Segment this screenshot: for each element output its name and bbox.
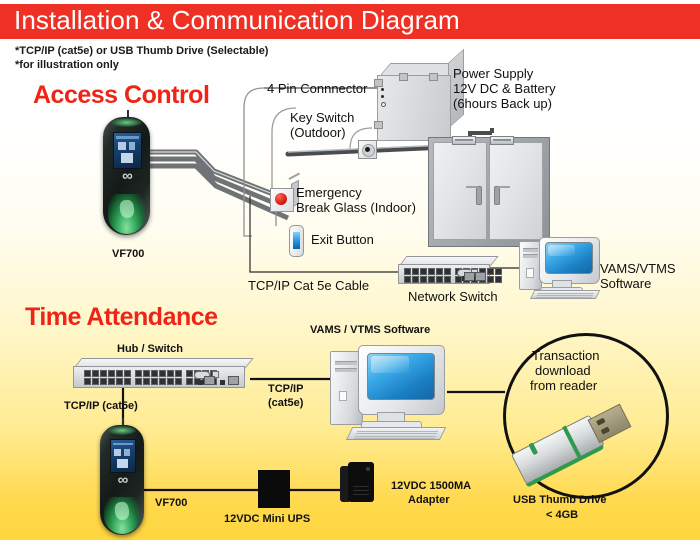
section-title-time-attendance: Time Attendance — [25, 303, 218, 332]
adapter-led — [366, 467, 370, 471]
door-handle-left — [476, 186, 482, 205]
label-vf700-access: VF700 — [112, 248, 144, 261]
reader-body-bottom: ∞ — [100, 425, 144, 535]
pc-screen-gloss — [548, 245, 575, 256]
pc-tower-slot — [335, 361, 357, 365]
label-tcpip-cat5e-cable: TCP/IP Cat 5e Cable — [248, 278, 369, 293]
label-network-switch: Network Switch — [408, 289, 498, 304]
label-mini-ups: 12VDC Mini UPS — [224, 513, 310, 526]
reader-logo: ∞ — [122, 168, 131, 185]
label-usb-line2: < 4GB — [546, 509, 578, 522]
screen-block-b — [129, 142, 136, 150]
reader-top-glow — [111, 118, 141, 127]
glass-doors — [428, 137, 548, 245]
pc-power-led-bottom — [339, 391, 347, 401]
network-switch-port-array — [404, 268, 502, 283]
pc-screen-gloss-bottom — [371, 356, 409, 373]
psu-tab-tl — [374, 79, 383, 87]
maglock-right-line — [493, 139, 511, 141]
usb-connector-hole — [601, 427, 610, 435]
header-bar: Installation & Communication Diagram — [0, 4, 700, 39]
key-switch-keyhole — [365, 147, 370, 152]
network-switch-device — [398, 256, 488, 284]
label-emergency-line1: Emergency — [296, 185, 362, 200]
vams-vtms-workstation-top — [519, 237, 601, 299]
label-key-switch-line2: (Outdoor) — [290, 125, 346, 140]
door-bar-left — [466, 186, 478, 188]
adapter-vent-line — [353, 494, 369, 495]
break-glass-red-button-icon — [275, 193, 287, 205]
psu-terminal-3 — [381, 102, 386, 107]
hub-switch-front — [73, 366, 245, 388]
pc-screen-top — [545, 242, 593, 273]
screen-block-a — [114, 449, 121, 456]
label-callout-line3: from reader — [530, 378, 597, 393]
label-usb-line1: USB Thumb Drive — [513, 494, 607, 507]
mini-ups-device — [258, 470, 290, 508]
page-title: Installation & Communication Diagram — [14, 5, 460, 36]
maglock-left-line — [455, 139, 473, 141]
exit-button-blue-face — [293, 232, 300, 249]
psu-front-face — [377, 75, 451, 141]
hub-switch-aux-port — [198, 380, 203, 385]
key-switch-device — [358, 140, 377, 159]
exit-button-device — [289, 225, 304, 257]
psu-tab-top-b — [429, 73, 438, 81]
pc-keyboard-bottom — [346, 427, 447, 440]
label-software-top-line1: VAMS/VTMS — [600, 261, 676, 276]
pc-keyboard-top — [530, 290, 601, 299]
network-switch-front — [398, 264, 490, 284]
label-link-reader-hub: TCP/IP (cat5e) — [64, 400, 138, 413]
label-callout-line2: download — [535, 363, 591, 378]
label-key-switch-line1: Key Switch — [290, 110, 354, 125]
reader-top-glow-bottom — [108, 426, 136, 435]
psu-terminal-1 — [381, 88, 384, 91]
vf700-reader-time-attendance: ∞ — [100, 425, 144, 535]
screen-titlebar — [113, 443, 134, 446]
label-exit-button: Exit Button — [311, 232, 374, 247]
screen-block-c — [117, 459, 129, 468]
pc-tower-slot — [523, 254, 538, 258]
label-link-hub-pc-line2: (cat5e) — [268, 397, 303, 410]
label-software-top-line2: Software — [600, 276, 651, 291]
label-emergency-line2: Break Glass (Indoor) — [296, 200, 416, 215]
hub-switch-uplink-port — [204, 376, 215, 385]
label-adapter-line2: Adapter — [408, 494, 450, 507]
power-supply-box — [377, 63, 463, 141]
pc-keyboard-line — [353, 438, 434, 439]
label-callout-line1: Transaction — [532, 348, 599, 363]
door-leaf-right — [489, 142, 543, 240]
screen-titlebar — [116, 136, 138, 139]
door-bar-right — [498, 186, 510, 188]
label-adapter-line1: 12VDC 1500MA — [391, 480, 471, 493]
pc-screen-bottom — [367, 353, 435, 400]
reader-screen-bottom — [110, 439, 137, 473]
pc-tower-slot — [335, 368, 357, 372]
screen-block-c — [121, 153, 134, 163]
door-handle-right — [494, 186, 500, 205]
label-vams-vtms-software-bottom: VAMS / VTMS Software — [310, 324, 430, 337]
psu-tab-bl — [374, 121, 383, 129]
usb-connector-hole — [596, 418, 605, 426]
label-hub-switch: Hub / Switch — [117, 343, 183, 356]
network-switch-uplink-port — [464, 272, 475, 281]
section-title-access-control: Access Control — [33, 81, 209, 110]
pc-keyboard-line — [355, 433, 436, 434]
pc-keyboard-line — [535, 297, 592, 298]
label-power-supply-line1: Power Supply — [453, 66, 533, 81]
network-switch-port-row — [404, 268, 502, 275]
maglock-left — [452, 136, 476, 145]
reader-logo-bottom: ∞ — [118, 472, 127, 489]
screen-block-b — [124, 449, 130, 456]
label-link-hub-pc-line1: TCP/IP — [268, 383, 303, 396]
psu-tab-top-a — [399, 73, 408, 81]
label-vf700-time-attendance: VF700 — [155, 497, 187, 510]
vf700-reader-access: ∞ — [103, 117, 150, 235]
pc-monitor-bottom — [358, 345, 445, 415]
pc-keyboard-line — [354, 435, 435, 436]
maglock-right — [490, 136, 514, 145]
label-power-supply-line3: (6hours Back up) — [453, 96, 552, 111]
psu-terminal-2 — [381, 95, 384, 98]
network-switch-uplink-port-2 — [475, 272, 486, 281]
door-leaf-left — [433, 142, 487, 240]
hub-switch-device — [73, 358, 243, 388]
pc-tower-slot — [523, 248, 538, 252]
adapter-vent-line — [353, 490, 369, 491]
hub-switch-uplink-port-2 — [228, 376, 239, 385]
note-line-1: *TCP/IP (cat5e) or USB Thumb Drive (Sele… — [15, 45, 268, 57]
vams-vtms-workstation-bottom — [330, 345, 448, 440]
adapter-vent-line — [353, 486, 369, 487]
network-switch-port-row — [404, 276, 502, 283]
pc-keyboard-line — [356, 430, 437, 431]
label-4-pin-connector: 4 Pin Connnector — [267, 81, 367, 96]
screen-block-a — [118, 142, 126, 150]
power-adapter-device — [348, 462, 382, 508]
diagram-page: Installation & Communication Diagram *TC… — [0, 0, 700, 551]
reader-screen — [113, 132, 141, 168]
pc-power-led — [526, 268, 534, 278]
hub-switch-aux-port-2 — [220, 380, 225, 385]
note-line-2: *for illustration only — [15, 59, 119, 71]
label-power-supply-line2: 12V DC & Battery — [453, 81, 556, 96]
adapter-body — [348, 462, 374, 502]
reader-body: ∞ — [103, 117, 150, 235]
pc-monitor-top — [539, 237, 600, 284]
